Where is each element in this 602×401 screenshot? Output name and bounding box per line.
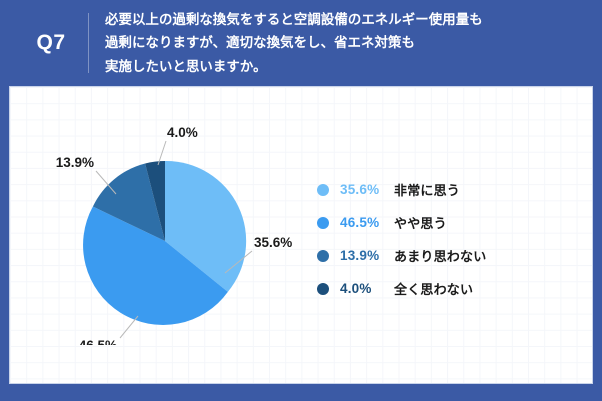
question-text: 必要以上の過剰な換気をすると空調設備のエネルギー使用量も 過剰になりますが、適切… [105,8,483,77]
pie-label-3: 13.9% [56,155,94,170]
legend-swatch-icon-3 [317,250,329,262]
question-line-2: 過剰になりますが、適切な換気をし、省エネ対策も [105,31,483,54]
pie-label-2: 46.5% [79,338,117,345]
question-header: Q7 必要以上の過剰な換気をすると空調設備のエネルギー使用量も 過剰になりますが… [0,0,602,86]
legend-item-3[interactable]: 13.9% あまり思わない [317,239,577,272]
leader-line-2 [120,316,138,338]
legend-percent-4: 4.0% [340,281,394,296]
pie-label-1: 35.6% [254,235,292,250]
question-number: Q7 [14,31,88,55]
legend-swatch-icon-1 [317,184,329,196]
question-line-3: 実施したいと思いますか。 [105,55,483,78]
legend-label-4: 全く思わない [394,279,473,298]
chart-panel: 35.6% 46.5% 13.9% 4.0% 35.6% 非常に思う 46.5%… [9,86,593,384]
header-divider [88,13,89,73]
legend-percent-3: 13.9% [340,248,394,263]
legend-item-4[interactable]: 4.0% 全く思わない [317,272,577,305]
chart-legend: 35.6% 非常に思う 46.5% やや思う 13.9% あまり思わない 4.0… [317,173,577,305]
legend-percent-1: 35.6% [340,182,394,197]
question-line-1: 必要以上の過剰な換気をすると空調設備のエネルギー使用量も [105,8,483,31]
legend-swatch-icon-4 [317,283,329,295]
legend-item-2[interactable]: 46.5% やや思う [317,206,577,239]
pie-label-4: 4.0% [167,125,198,140]
legend-percent-2: 46.5% [340,215,394,230]
pie-chart-svg: 35.6% 46.5% 13.9% 4.0% [20,95,320,345]
legend-label-2: やや思う [394,213,447,232]
legend-label-1: 非常に思う [394,180,460,199]
legend-label-3: あまり思わない [394,246,486,265]
legend-item-1[interactable]: 35.6% 非常に思う [317,173,577,206]
legend-swatch-icon-2 [317,217,329,229]
pie-chart: 35.6% 46.5% 13.9% 4.0% [20,95,320,345]
